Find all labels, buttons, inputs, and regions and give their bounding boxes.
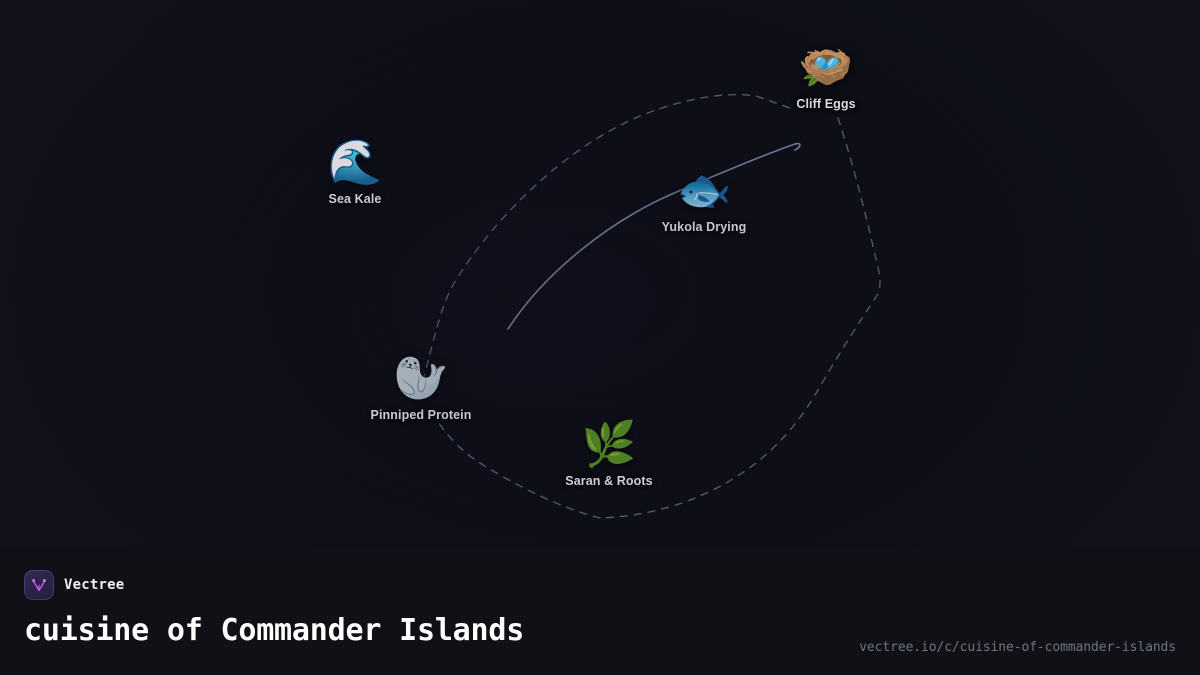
seal-icon: 🦭 [394, 355, 449, 403]
brand-name: Vectree [64, 577, 124, 593]
graph-node-cliff-eggs[interactable]: 🪺 Cliff Eggs [741, 44, 911, 112]
graph-node-pinniped-protein[interactable]: 🦭 Pinniped Protein [336, 355, 506, 423]
ocean-wave-icon: 🌊 [328, 139, 383, 187]
graph-node-label: Sea Kale [323, 191, 388, 207]
edge-pinniped-protein-to-cliff-eggs [423, 95, 790, 381]
nest-with-eggs-icon: 🪺 [799, 44, 854, 92]
vectree-logo-icon [24, 570, 54, 600]
graph-node-sea-kale[interactable]: 🌊 Sea Kale [270, 139, 440, 207]
graph-node-label: Pinniped Protein [365, 407, 478, 423]
share-url: vectree.io/c/cuisine-of-commander-island… [859, 640, 1176, 655]
card-footer: Vectree cuisine of Commander Islands vec… [0, 548, 1200, 675]
graph-node-label: Yukola Drying [656, 219, 753, 235]
graph-node-label: Saran & Roots [559, 473, 658, 489]
herb-icon: 🌿 [582, 421, 637, 469]
graph-node-yukola-drying[interactable]: 🐟 Yukola Drying [619, 167, 789, 235]
graph-node-saran-roots[interactable]: 🌿 Saran & Roots [524, 421, 694, 489]
brand-block[interactable]: Vectree [24, 570, 1176, 600]
share-card: 🪺 Cliff Eggs 🌊 Sea Kale 🐟 Yukola Drying … [0, 0, 1200, 675]
graph-node-label: Cliff Eggs [790, 96, 861, 112]
fish-icon: 🐟 [677, 167, 732, 215]
graph-canvas[interactable]: 🪺 Cliff Eggs 🌊 Sea Kale 🐟 Yukola Drying … [0, 0, 1200, 548]
